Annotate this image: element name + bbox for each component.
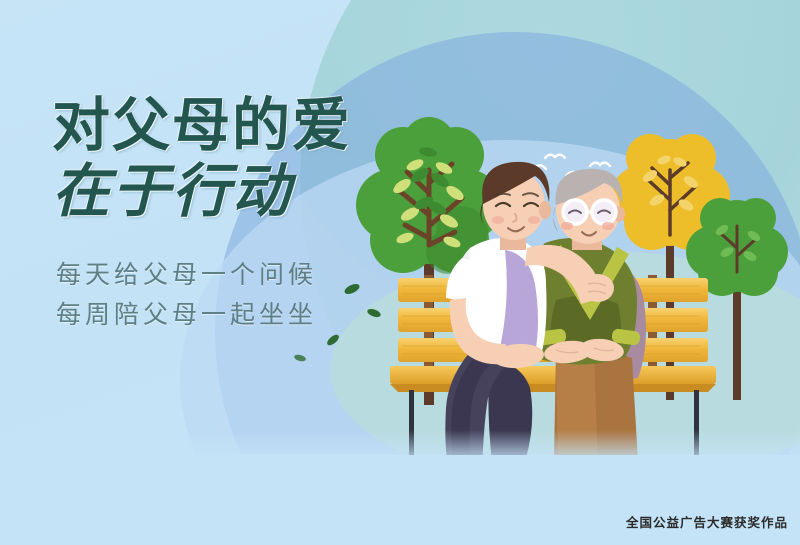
- award-credit-text: 全国公益广告大赛获奖作品: [626, 512, 788, 531]
- foreground-base: [0, 455, 800, 545]
- subtitle-line-2: 每周陪父母一起坐坐: [56, 295, 386, 335]
- headline-line-2: 在于行动: [52, 162, 412, 220]
- subtitle-line-1: 每天给父母一个问候: [56, 255, 386, 295]
- poster-canvas: 对父母的爱 在于行动 每天给父母一个问候 每周陪父母一起坐坐 全国公益广告大赛获…: [0, 0, 800, 545]
- headline-line-1: 对父母的爱: [52, 96, 412, 154]
- headline-block: 对父母的爱 在于行动: [52, 96, 412, 220]
- subtitle-block: 每天给父母一个问候 每周陪父母一起坐坐: [56, 255, 386, 335]
